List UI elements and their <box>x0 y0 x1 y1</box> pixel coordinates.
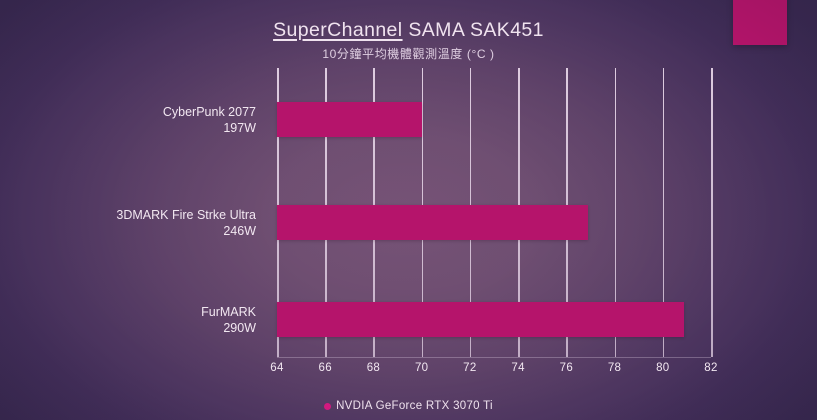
page-subtitle: 10分鐘平均機體觀測溫度 (°C ) <box>0 45 817 62</box>
x-axis-tick-labels: 64666870727476788082 <box>277 362 711 382</box>
legend-marker-icon <box>324 403 331 410</box>
slide-canvas: SuperChannel SAMA SAK451 10分鐘平均機體觀測溫度 (°… <box>0 0 817 420</box>
page-title-brand: SuperChannel <box>273 19 402 41</box>
bar-0[interactable] <box>277 102 422 137</box>
x-tick-label-78: 78 <box>608 362 621 374</box>
chart-header: SuperChannel SAMA SAK451 10分鐘平均機體觀測溫度 (°… <box>0 20 817 62</box>
plot-area <box>277 68 711 357</box>
category-name-0: CyberPunk 2077 <box>163 104 256 120</box>
category-power-0: 197W <box>163 120 256 136</box>
category-name-2: FurMARK <box>201 304 256 320</box>
x-tick-label-74: 74 <box>511 362 524 374</box>
x-tick-label-64: 64 <box>270 362 283 374</box>
category-label-1: 3DMARK Fire Strke Ultra246W <box>116 207 256 239</box>
category-power-2: 290W <box>201 320 256 336</box>
bar-2[interactable] <box>277 302 684 337</box>
category-label-2: FurMARK290W <box>201 304 256 336</box>
category-label-0: CyberPunk 2077197W <box>163 104 256 136</box>
x-tick-label-68: 68 <box>367 362 380 374</box>
x-tick-label-76: 76 <box>560 362 573 374</box>
x-tick-label-66: 66 <box>319 362 332 374</box>
legend-label: NVDIA GeForce RTX 3070 Ti <box>336 400 493 412</box>
x-axis-baseline <box>277 357 711 358</box>
page-title-model: SAMA SAK451 <box>403 19 544 41</box>
x-tick-label-80: 80 <box>656 362 669 374</box>
x-tick-label-82: 82 <box>704 362 717 374</box>
category-axis-labels: CyberPunk 2077197W3DMARK Fire Strke Ultr… <box>0 68 268 357</box>
bar-1[interactable] <box>277 205 588 240</box>
x-tick-label-70: 70 <box>415 362 428 374</box>
gridline-82 <box>711 68 713 357</box>
x-tick-label-72: 72 <box>463 362 476 374</box>
page-title: SuperChannel SAMA SAK451 <box>0 20 817 40</box>
category-power-1: 246W <box>116 223 256 239</box>
category-name-1: 3DMARK Fire Strke Ultra <box>116 207 256 223</box>
chart-legend: NVDIA GeForce RTX 3070 Ti <box>0 400 817 412</box>
